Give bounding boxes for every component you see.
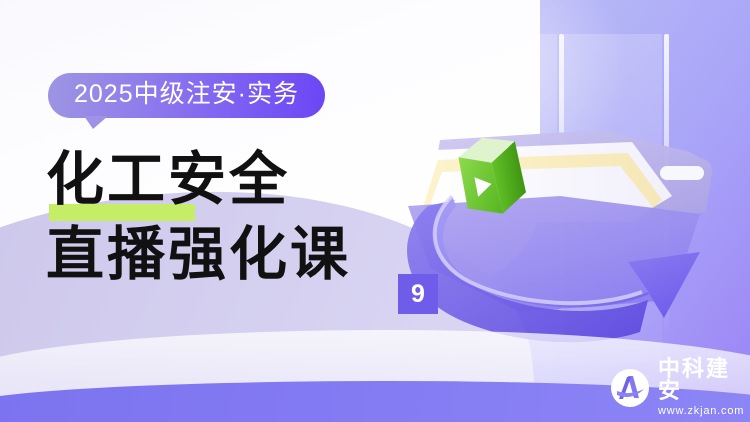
headline-line-1: 化工安全 bbox=[46, 150, 290, 209]
course-tag: 2025中级注安·实务 bbox=[48, 73, 325, 118]
brand-logo: 中科建安 www.zkjan.com bbox=[610, 358, 750, 417]
headline-line-2: 直播强化课 bbox=[46, 225, 351, 284]
course-banner: 2025中级注安·实务 化工安全 直播强化课 9 中科建安 www.zkjan.… bbox=[0, 0, 750, 422]
episode-badge: 9 bbox=[398, 274, 438, 314]
folder-tab-highlight bbox=[660, 166, 704, 180]
headline-row-1: 化工安全 bbox=[46, 150, 466, 209]
headline-block: 化工安全 直播强化课 bbox=[46, 150, 466, 284]
logo-text-block: 中科建安 www.zkjan.com bbox=[658, 358, 750, 417]
logo-company-name: 中科建安 bbox=[658, 358, 750, 402]
logo-mark-icon bbox=[610, 368, 650, 408]
course-tag-label: 2025中级注安·实务 bbox=[48, 73, 325, 118]
logo-website-url: www.zkjan.com bbox=[658, 406, 750, 417]
course-tag-pointer bbox=[84, 116, 108, 129]
